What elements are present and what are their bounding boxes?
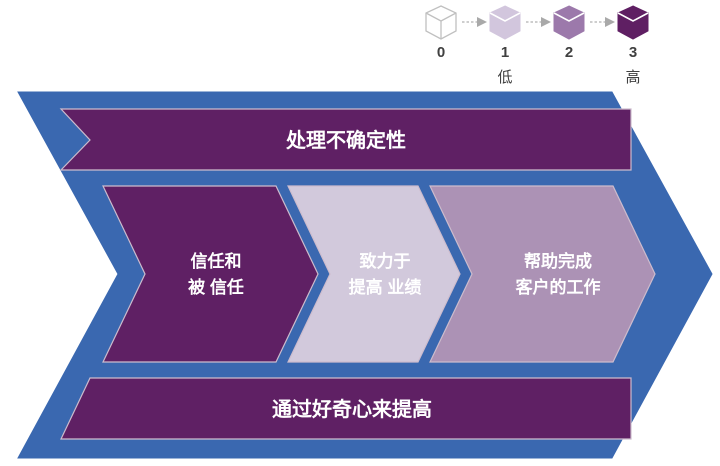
diagram-canvas: 0 1 低 2 (0, 0, 720, 466)
chevron-client-work-line-2: 客户的工作 (515, 277, 601, 297)
legend-step-2[interactable]: 2 (554, 6, 584, 61)
chevron-performance-line-2: 提高 业绩 (349, 277, 422, 297)
legend-high-label: 高 (625, 69, 640, 86)
legend-step-0[interactable]: 0 (426, 6, 456, 61)
legend-number-3: 3 (629, 44, 637, 61)
arrow-right-icon (462, 17, 487, 27)
legend-step-3[interactable]: 3 高 (618, 6, 648, 86)
arrow-right-icon (590, 17, 615, 27)
legend-low-label: 低 (497, 69, 512, 86)
top-banner-label: 处理不确定性 (285, 128, 406, 152)
cube-outline-icon (426, 6, 456, 39)
chevron-trust-line-2: 被 信任 (188, 277, 244, 297)
chevron-client-work-line-1: 帮助完成 (524, 251, 592, 271)
chevron-row: 信任和 被 信任 致力于 提高 业绩 帮助完成 客户的工作 (103, 186, 655, 362)
bottom-banner-label: 通过好奇心来提高 (272, 397, 432, 421)
legend-number-0: 0 (437, 44, 445, 61)
bottom-banner[interactable]: 通过好奇心来提高 (61, 378, 631, 439)
legend-number-1: 1 (501, 44, 509, 61)
legend-number-2: 2 (565, 44, 573, 61)
legend-step-1[interactable]: 1 低 (490, 6, 520, 86)
top-banner[interactable]: 处理不确定性 (61, 109, 631, 170)
arrow-right-icon (526, 17, 551, 27)
cube-filled-icon (618, 6, 648, 39)
cube-filled-icon (554, 6, 584, 39)
cube-filled-icon (490, 6, 520, 39)
chevron-performance-line-1: 致力于 (360, 251, 411, 271)
legend: 0 1 低 2 (426, 6, 648, 86)
chevron-trust-line-1: 信任和 (191, 251, 242, 271)
